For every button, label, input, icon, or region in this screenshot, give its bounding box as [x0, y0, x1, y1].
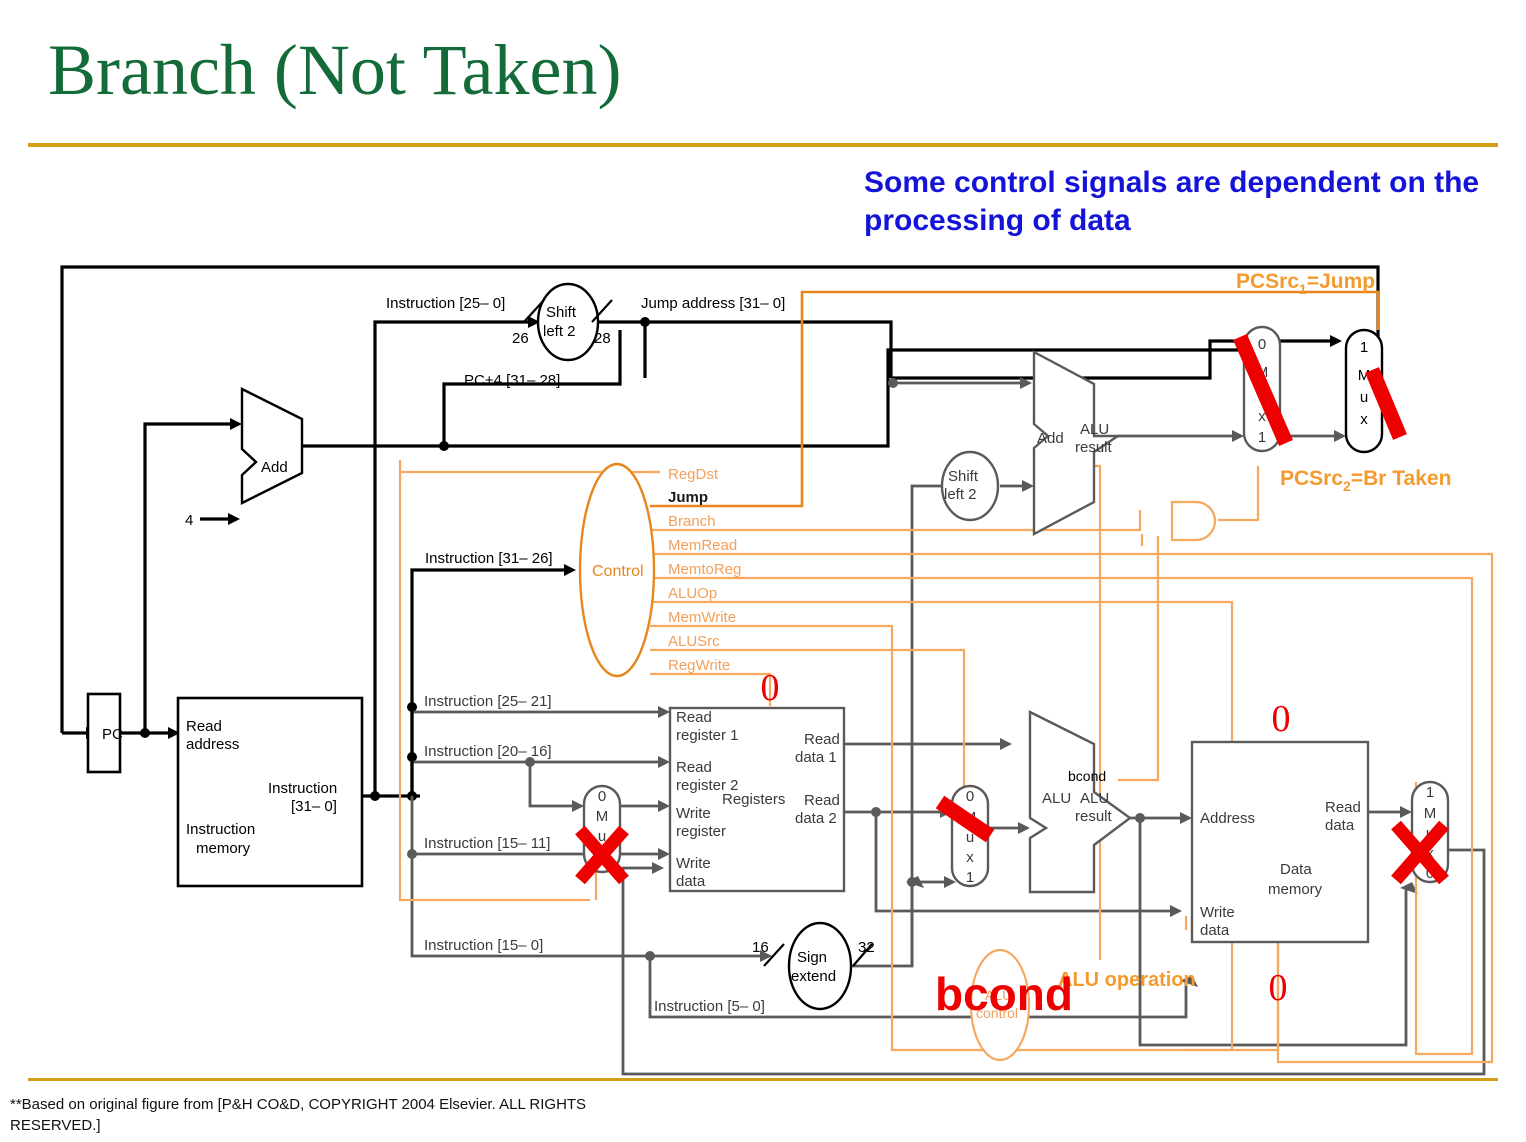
reg-read-register-2-l1: Read	[676, 759, 712, 776]
dmem-address: Address	[1200, 810, 1255, 827]
control-label: Control	[592, 563, 644, 580]
slide-root: Branch (Not Taken) Some control signals …	[0, 0, 1526, 1142]
signal-branch: Branch	[668, 513, 716, 530]
signal-aluop: ALUOp	[668, 585, 717, 602]
dmem-write-data-l2: data	[1200, 922, 1230, 939]
datapath-diagram: PC Read address Instruction memory Instr…	[0, 0, 1526, 1142]
reg-read-data-1-l2: data 1	[795, 749, 837, 766]
dmem-read-data-l2: data	[1325, 817, 1355, 834]
reg-write-data-l1: Write	[676, 855, 711, 872]
regdst-mux-m: M	[596, 808, 609, 825]
signal-regwrite: RegWrite	[668, 657, 730, 674]
add-pc4-label: Add	[261, 459, 288, 476]
branch-mux-ch0: 0	[1258, 336, 1266, 353]
add-branch-name: Add	[1037, 430, 1064, 447]
width-28-label: 28	[594, 330, 611, 347]
jump-mux-u: u	[1360, 389, 1368, 406]
shift-left-2-branch-l1: Shift	[948, 468, 979, 485]
imem-name-l1: Instruction	[186, 821, 255, 838]
signal-jump: Jump	[668, 489, 708, 506]
annotation-zero-regwrite: 0	[761, 667, 780, 709]
memtoreg-mux-ch1: 1	[1426, 784, 1434, 801]
pcsrc1-label: PCSrc1=Jump	[1236, 270, 1375, 297]
reg-write-register-l2: register	[676, 823, 726, 840]
shift-left-2-branch-l2: left 2	[944, 486, 977, 503]
imem-out-l1: Instruction	[268, 780, 337, 797]
const-4-label: 4	[185, 512, 193, 529]
imem-read-address-l1: Read	[186, 718, 222, 735]
reg-read-register-1-l2: register 1	[676, 727, 739, 744]
reg-read-register-1-l1: Read	[676, 709, 712, 726]
instruction-5-0-label: Instruction [5– 0]	[654, 998, 765, 1015]
signal-memtoreg: MemtoReg	[668, 561, 741, 578]
signal-memread: MemRead	[668, 537, 737, 554]
shift-left-2-jump-l2: left 2	[543, 323, 576, 340]
pcsrc2-label: PCSrc2=Br Taken	[1280, 467, 1451, 494]
signal-memwrite: MemWrite	[668, 609, 736, 626]
branch-mux-ch1: 1	[1258, 429, 1266, 446]
annotation-zero-memread: 0	[1269, 967, 1288, 1009]
width-26-label: 26	[512, 330, 529, 347]
imem-out-l2: [31– 0]	[291, 798, 337, 815]
instruction-20-16-label: Instruction [20– 16]	[424, 743, 552, 760]
pc-plus-4-label: PC+4 [31– 28]	[464, 372, 560, 389]
imem-read-address-l2: address	[186, 736, 239, 753]
registers-name: Registers	[722, 791, 785, 808]
instruction-15-11-label: Instruction [15– 11]	[424, 835, 550, 852]
alusrc-mux-x: x	[966, 849, 974, 866]
signal-regdst: RegDst	[668, 466, 719, 483]
shift-left-2-jump-l1: Shift	[546, 304, 577, 321]
alusrc-mux-ch1: 1	[966, 869, 974, 886]
annotation-bcond-control: bcond	[935, 968, 1073, 1020]
jump-mux-ch1: 1	[1360, 339, 1368, 356]
reg-read-data-2-l2: data 2	[795, 810, 837, 827]
reg-write-data-l2: data	[676, 873, 706, 890]
width-32-label: 32	[858, 939, 875, 956]
instruction-25-21-label: Instruction [25– 21]	[424, 693, 552, 710]
jump-address-label: Jump address [31– 0]	[641, 295, 785, 312]
reg-read-data-1-l1: Read	[804, 731, 840, 748]
alu-bcond-label: bcond	[1068, 768, 1106, 784]
alusrc-mux-ch0: 0	[966, 788, 974, 805]
alu-result-l2: result	[1075, 808, 1113, 825]
dmem-write-data-l1: Write	[1200, 904, 1235, 921]
alu-name: ALU	[1042, 790, 1071, 807]
sign-extend-l1: Sign	[797, 949, 827, 966]
instruction-25-0-label: Instruction [25– 0]	[386, 295, 505, 312]
dmem-name-l1: Data	[1280, 861, 1312, 878]
reg-read-data-2-l1: Read	[804, 792, 840, 809]
sign-extend-l2: extend	[791, 968, 836, 985]
pc-label: PC	[102, 726, 123, 743]
width-16-label: 16	[752, 939, 769, 956]
add-branch-result-l1: ALU	[1080, 421, 1109, 438]
dmem-name-l2: memory	[1268, 881, 1323, 898]
memtoreg-mux-m: M	[1424, 805, 1437, 822]
alu-result-l1: ALU	[1080, 790, 1109, 807]
alu-operation-label: ALU operation	[1058, 969, 1196, 991]
reg-write-register-l1: Write	[676, 805, 711, 822]
instruction-31-26-label: Instruction [31– 26]	[425, 550, 553, 567]
annotation-zero-memwrite: 0	[1272, 698, 1291, 740]
imem-name-l2: memory	[196, 840, 251, 857]
jump-mux-x: x	[1360, 411, 1368, 428]
dmem-read-data-l1: Read	[1325, 799, 1361, 816]
add-branch-result-l2: result	[1075, 439, 1113, 456]
regdst-mux-ch0: 0	[598, 788, 606, 805]
signal-alusrc: ALUSrc	[668, 633, 720, 650]
instruction-15-0-label: Instruction [15– 0]	[424, 937, 543, 954]
